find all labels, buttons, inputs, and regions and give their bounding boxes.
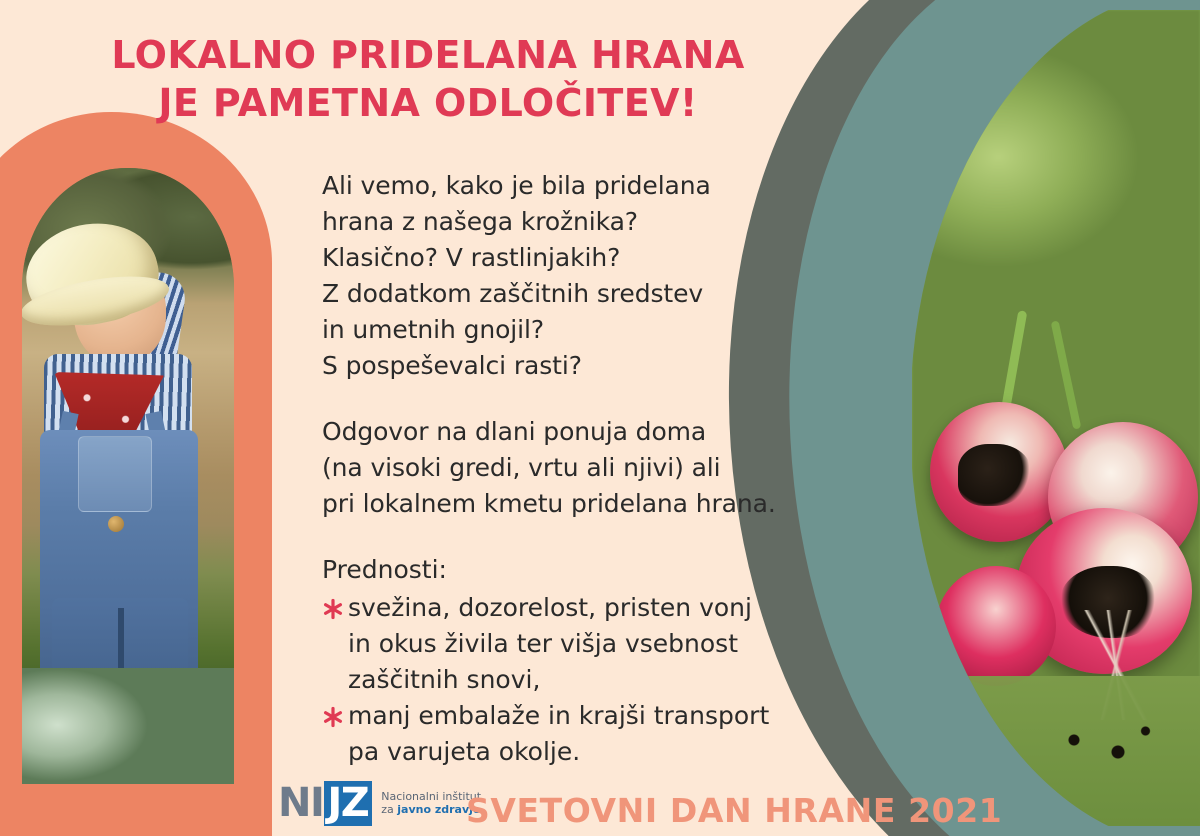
advantages-heading: Prednosti:	[322, 552, 842, 588]
answer-line: Odgovor na dlani ponuja doma	[322, 414, 842, 450]
intro-paragraph: Ali vemo, kako je bila pridelana hrana z…	[322, 168, 842, 384]
advantages-list: svežina, dozorelost, pristen vonj in oku…	[322, 590, 842, 770]
list-item: manj embalaže in krajši transport pa var…	[322, 698, 842, 770]
intro-line: Z dodatkom zaščitnih sredstev	[322, 276, 842, 312]
poster-body: Ali vemo, kako je bila pridelana hrana z…	[322, 168, 842, 770]
cabbage-plant	[22, 668, 234, 784]
advantage-line: zaščitnih snovi,	[348, 662, 842, 698]
overall-bib-pocket	[78, 436, 152, 512]
intro-line: Ali vemo, kako je bila pridelana	[322, 168, 842, 204]
intro-line: S pospeševalci rasti?	[322, 348, 842, 384]
nijz-mark-ni: NI	[278, 783, 323, 823]
asterisk-icon	[322, 590, 348, 626]
advantage-text: manj embalaže in krajši transport pa var…	[348, 698, 842, 770]
advantage-text: svežina, dozorelost, pristen vonj in oku…	[348, 590, 842, 698]
advantage-line: pa varujeta okolje.	[348, 734, 842, 770]
nijz-wordmark: NI JZ	[278, 781, 372, 826]
nijz-words-prefix: za	[381, 803, 397, 816]
answer-line: (na visoki gredi, vrtu ali njivi) ali	[322, 450, 842, 486]
intro-line: Klasično? V rastlinjakih?	[322, 240, 842, 276]
intro-line: in umetnih gnojil?	[322, 312, 842, 348]
asterisk-icon	[322, 698, 348, 734]
intro-line: hrana z našega krožnika?	[322, 204, 842, 240]
poster-canvas: LOKALNO PRIDELANA HRANA JE PAMETNA ODLOČ…	[0, 0, 1200, 836]
nijz-mark-jz: JZ	[324, 781, 372, 826]
answer-paragraph: Odgovor na dlani ponuja doma (na visoki …	[322, 414, 842, 522]
poster-footer: NI JZ Nacionalni inštitut za javno zdrav…	[0, 772, 1200, 836]
title-line-1: LOKALNO PRIDELANA HRANA	[0, 32, 856, 80]
nijz-logo: NI JZ Nacionalni inštitut za javno zdrav…	[278, 781, 481, 826]
advantage-line: manj embalaže in krajši transport	[348, 698, 842, 734]
advantage-line: in okus živila ter višja vsebnost	[348, 626, 842, 662]
list-item: svežina, dozorelost, pristen vonj in oku…	[322, 590, 842, 698]
child-gardening-photo	[22, 168, 234, 784]
title-line-2: JE PAMETNA ODLOČITEV!	[0, 80, 856, 128]
poster-title: LOKALNO PRIDELANA HRANA JE PAMETNA ODLOČ…	[0, 32, 856, 128]
advantage-line: svežina, dozorelost, pristen vonj	[348, 590, 842, 626]
footer-tagline: SVETOVNI DAN HRANE 2021	[466, 791, 1002, 830]
overall-button	[108, 516, 124, 532]
paragraph-spacer	[322, 384, 842, 414]
soil-specks	[1052, 716, 1162, 776]
answer-line: pri lokalnem kmetu pridelana hrana.	[322, 486, 842, 522]
